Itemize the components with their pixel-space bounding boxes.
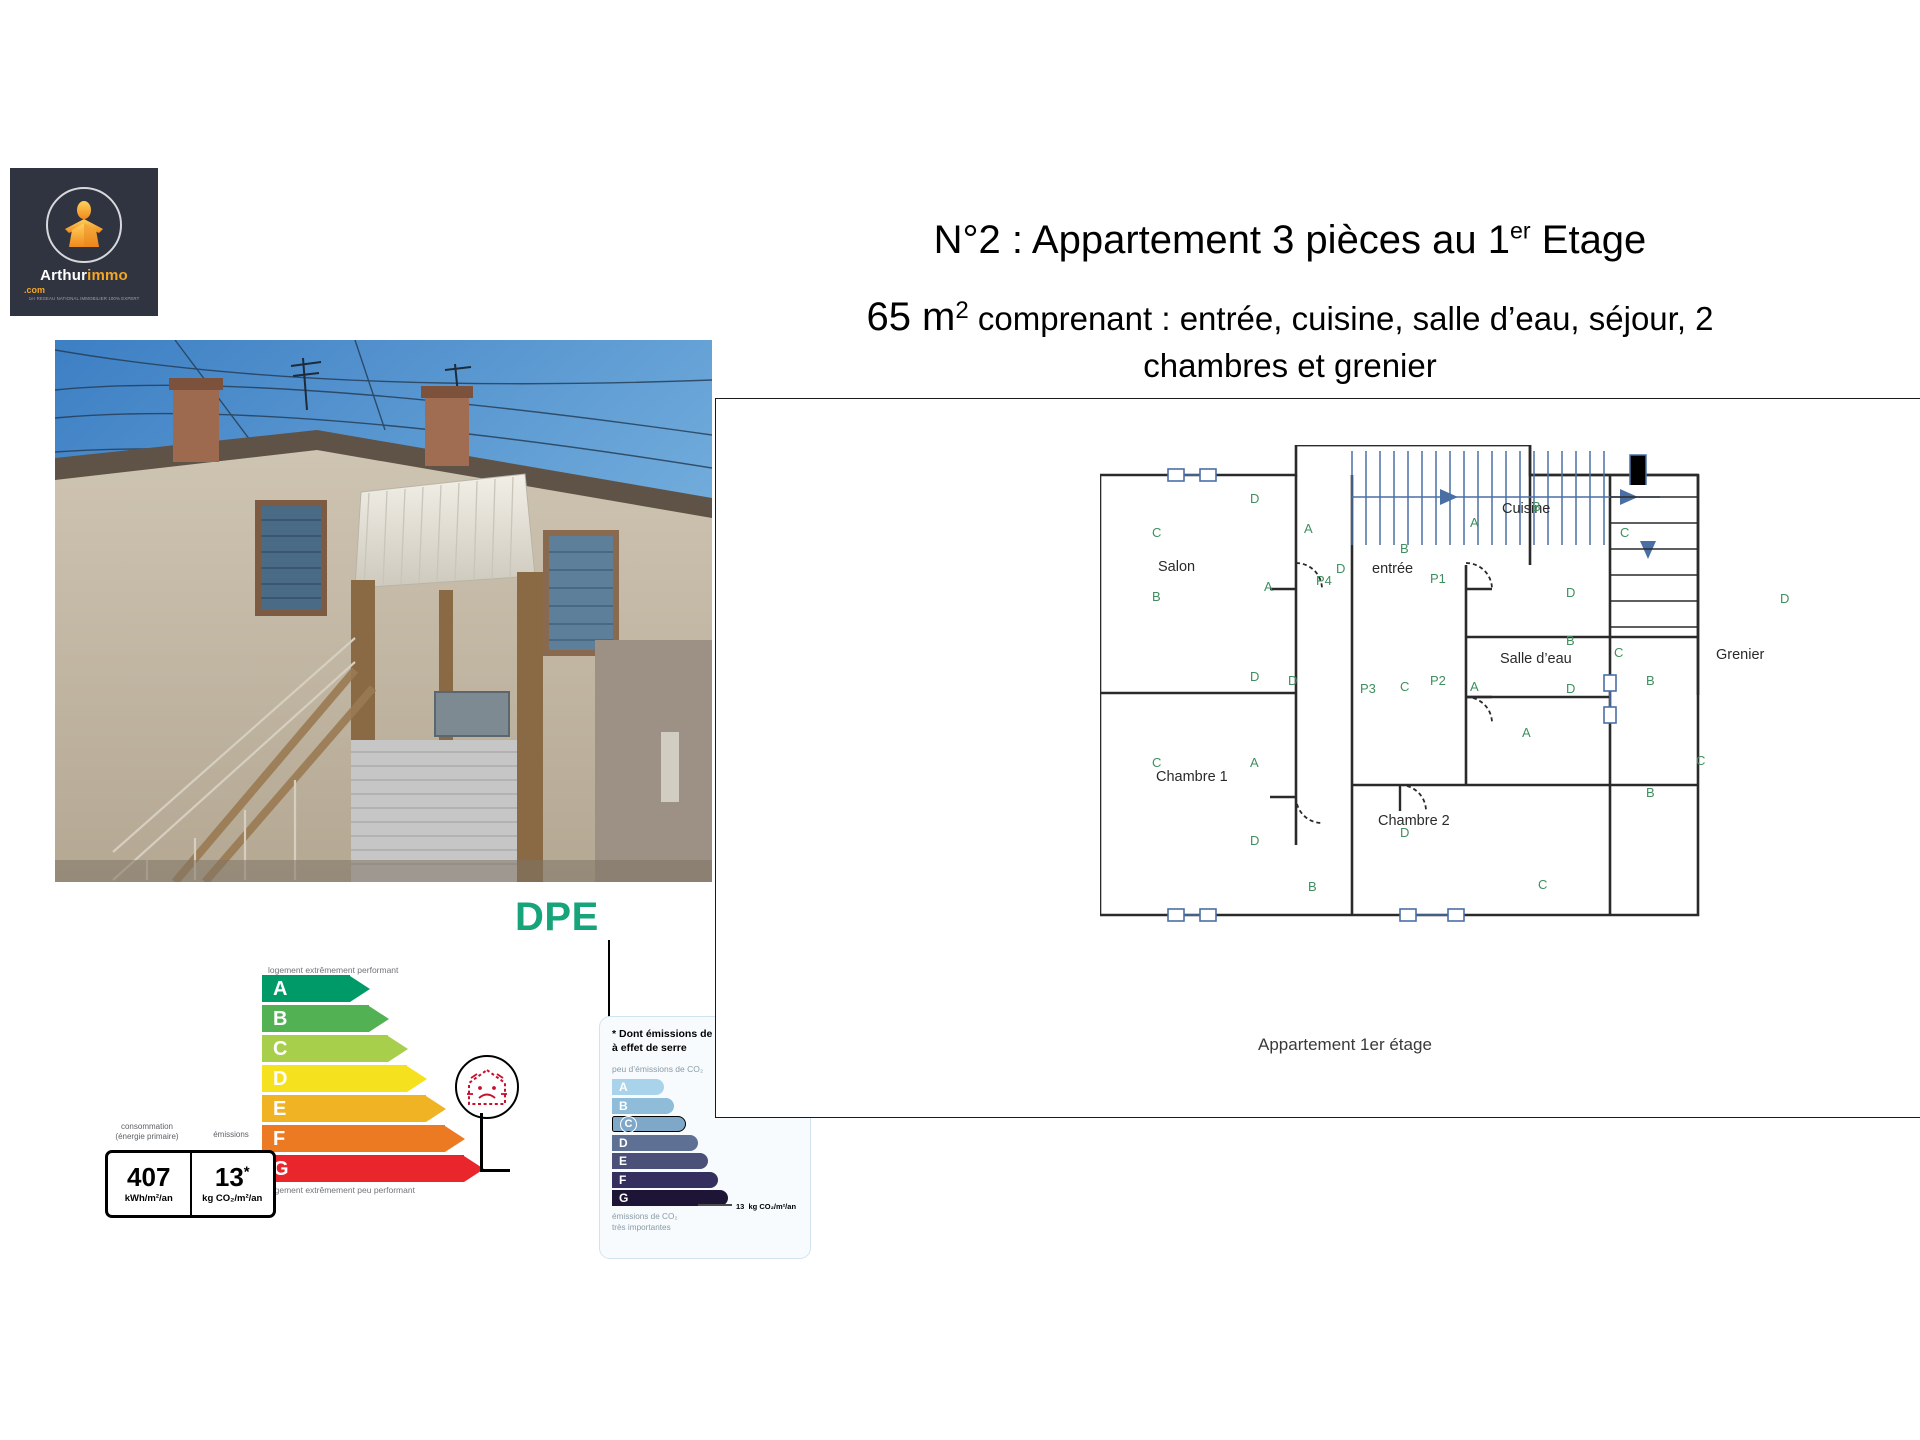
svg-text:Salle d’eau: Salle d’eau <box>1500 651 1572 667</box>
co2-class-f: F <box>612 1172 798 1188</box>
co2-class-letter: E <box>619 1155 627 1167</box>
dpe-head-emissions: émissions <box>189 1122 273 1142</box>
svg-text:D: D <box>1250 833 1259 848</box>
co2-value-number: 13 <box>736 1202 744 1211</box>
co2-value-unit: kg CO₂/m²/an <box>749 1202 797 1211</box>
svg-text:P4: P4 <box>1316 573 1332 588</box>
dpe-emission-number: 13 <box>215 1162 244 1192</box>
logo-dotcom: .com <box>24 285 45 295</box>
svg-text:Chambre 1: Chambre 1 <box>1156 769 1228 785</box>
subtitle-rest: comprenant : entrée, cuisine, salle d’ea… <box>969 300 1714 337</box>
svg-text:D: D <box>1336 561 1345 576</box>
svg-text:B: B <box>1152 589 1161 604</box>
svg-text:D: D <box>1400 825 1409 840</box>
svg-text:Salon: Salon <box>1158 559 1195 575</box>
co2-class-letter: B <box>619 1100 628 1112</box>
bubble-tail-vertical <box>480 1113 483 1171</box>
svg-text:B: B <box>1308 879 1317 894</box>
svg-text:Cuisine: Cuisine <box>1502 501 1550 517</box>
svg-text:D: D <box>1780 591 1789 606</box>
svg-text:A: A <box>1522 725 1531 740</box>
svg-text:C: C <box>1538 877 1547 892</box>
dpe-bottom-note: logement extrêmement peu performant <box>268 1185 522 1195</box>
dpe-class-letter: F <box>273 1129 285 1149</box>
svg-text:D: D <box>1566 585 1575 600</box>
svg-text:D: D <box>1250 669 1259 684</box>
dpe-emission-cell: 13* kg CO₂/m²/an <box>192 1153 274 1215</box>
subtitle-area-sup: 2 <box>955 297 968 324</box>
dpe-head-primary: (énergie primaire) <box>105 1132 189 1142</box>
dpe-emission-unit: kg CO₂/m²/an <box>202 1193 262 1204</box>
svg-text:C: C <box>1152 525 1161 540</box>
co2-class-d: D <box>612 1135 798 1151</box>
dpe-readout-box: 407 kWh/m²/an 13* kg CO₂/m²/an <box>105 1150 276 1218</box>
svg-text:A: A <box>1250 755 1259 770</box>
svg-text:B: B <box>1646 785 1655 800</box>
svg-text:D: D <box>1566 681 1575 696</box>
title-end: Etage <box>1531 218 1647 262</box>
svg-text:A: A <box>1264 579 1273 594</box>
svg-text:C: C <box>1696 753 1705 768</box>
facade-photo <box>55 340 712 882</box>
svg-text:B: B <box>1566 633 1575 648</box>
dpe-title: DPE <box>515 895 599 940</box>
title-superscript: er <box>1510 218 1531 244</box>
svg-text:A: A <box>1470 679 1479 694</box>
bubble-tail-horizontal <box>480 1169 510 1172</box>
dpe-class-a: A <box>262 975 522 1002</box>
svg-text:D: D <box>1288 673 1297 688</box>
subtitle-line2: chambres et grenier <box>700 344 1880 389</box>
dpe-class-letter: D <box>273 1069 287 1089</box>
svg-text:C: C <box>1614 645 1623 660</box>
arthurimmo-figure-icon <box>46 187 122 263</box>
logo-brand-immo: immo <box>87 267 128 284</box>
logo-brand-text: Arthurimmo <box>40 268 128 283</box>
co2-class-letter: F <box>619 1174 626 1186</box>
svg-text:C: C <box>1400 679 1409 694</box>
co2-foot-note: émissions de CO₂ très importantes <box>612 1212 798 1233</box>
dpe-readout-headers: consommation (énergie primaire) émission… <box>105 1122 273 1142</box>
dpe-emission-star: * <box>244 1163 250 1180</box>
dpe-class-letter: C <box>273 1039 287 1059</box>
svg-text:C: C <box>1152 755 1161 770</box>
svg-text:A: A <box>1470 515 1479 530</box>
svg-text:B: B <box>1646 673 1655 688</box>
svg-text:A: A <box>1304 521 1313 536</box>
dpe-consumption-value: 407 <box>127 1164 170 1190</box>
svg-text:B: B <box>1400 541 1409 556</box>
co2-leader-line <box>698 1204 732 1206</box>
dpe-class-letter: E <box>273 1099 286 1119</box>
dpe-emission-value: 13* <box>215 1164 250 1190</box>
svg-text:P3: P3 <box>1360 681 1376 696</box>
svg-text:Chambre 2: Chambre 2 <box>1378 813 1450 829</box>
svg-text:P1: P1 <box>1430 571 1446 586</box>
floorplan-drawing: Salon Cuisine entrée Salle d’eau Chambre… <box>1100 445 1840 970</box>
dpe-class-b: B <box>262 1005 522 1032</box>
sad-house-icon <box>455 1055 519 1119</box>
logo-brand-art: Arthur <box>40 267 87 284</box>
svg-text:D: D <box>1250 491 1259 506</box>
co2-class-letter: D <box>619 1137 628 1149</box>
dpe-class-letter: B <box>273 1009 287 1029</box>
page-title: N°2 : Appartement 3 pièces au 1er Etage <box>700 215 1880 265</box>
co2-foot-line2: très importantes <box>612 1223 798 1234</box>
subtitle-area: 65 m <box>866 295 955 339</box>
dpe-consumption-unit: kWh/m²/an <box>125 1193 173 1204</box>
dpe-class-letter: A <box>273 979 287 999</box>
page-subtitle: 65 m2 comprenant : entrée, cuisine, sall… <box>700 290 1880 389</box>
title-main: N°2 : Appartement 3 pièces au 1 <box>934 218 1510 262</box>
svg-text:C: C <box>1620 525 1629 540</box>
svg-text:P2: P2 <box>1430 673 1446 688</box>
co2-foot-line1: émissions de CO₂ <box>612 1212 798 1223</box>
svg-text:Grenier: Grenier <box>1716 647 1765 663</box>
dpe-consumption-cell: 407 kWh/m²/an <box>108 1153 192 1215</box>
dpe-head-consumption: consommation <box>105 1122 189 1132</box>
co2-class-letter: A <box>619 1081 628 1093</box>
dpe-class-f: F <box>262 1125 522 1152</box>
dpe-top-note: logement extrêmement performant <box>268 965 522 975</box>
co2-class-letter: G <box>619 1192 628 1204</box>
floorplan-caption: Appartement 1er étage <box>1258 1035 1432 1055</box>
co2-value: 13 kg CO₂/m²/an <box>736 1196 796 1213</box>
svg-text:B: B <box>1532 499 1541 514</box>
arthurimmo-logo: Arthurimmo .com 1er RESEAU NATIONAL IMMO… <box>10 168 158 316</box>
co2-class-letter: C <box>620 1116 637 1133</box>
co2-class-e: E <box>612 1153 798 1169</box>
co2-class-c: C <box>612 1116 798 1132</box>
svg-text:entrée: entrée <box>1372 561 1413 577</box>
logo-tagline: 1er RESEAU NATIONAL IMMOBILIER 100% EXPE… <box>24 296 144 302</box>
